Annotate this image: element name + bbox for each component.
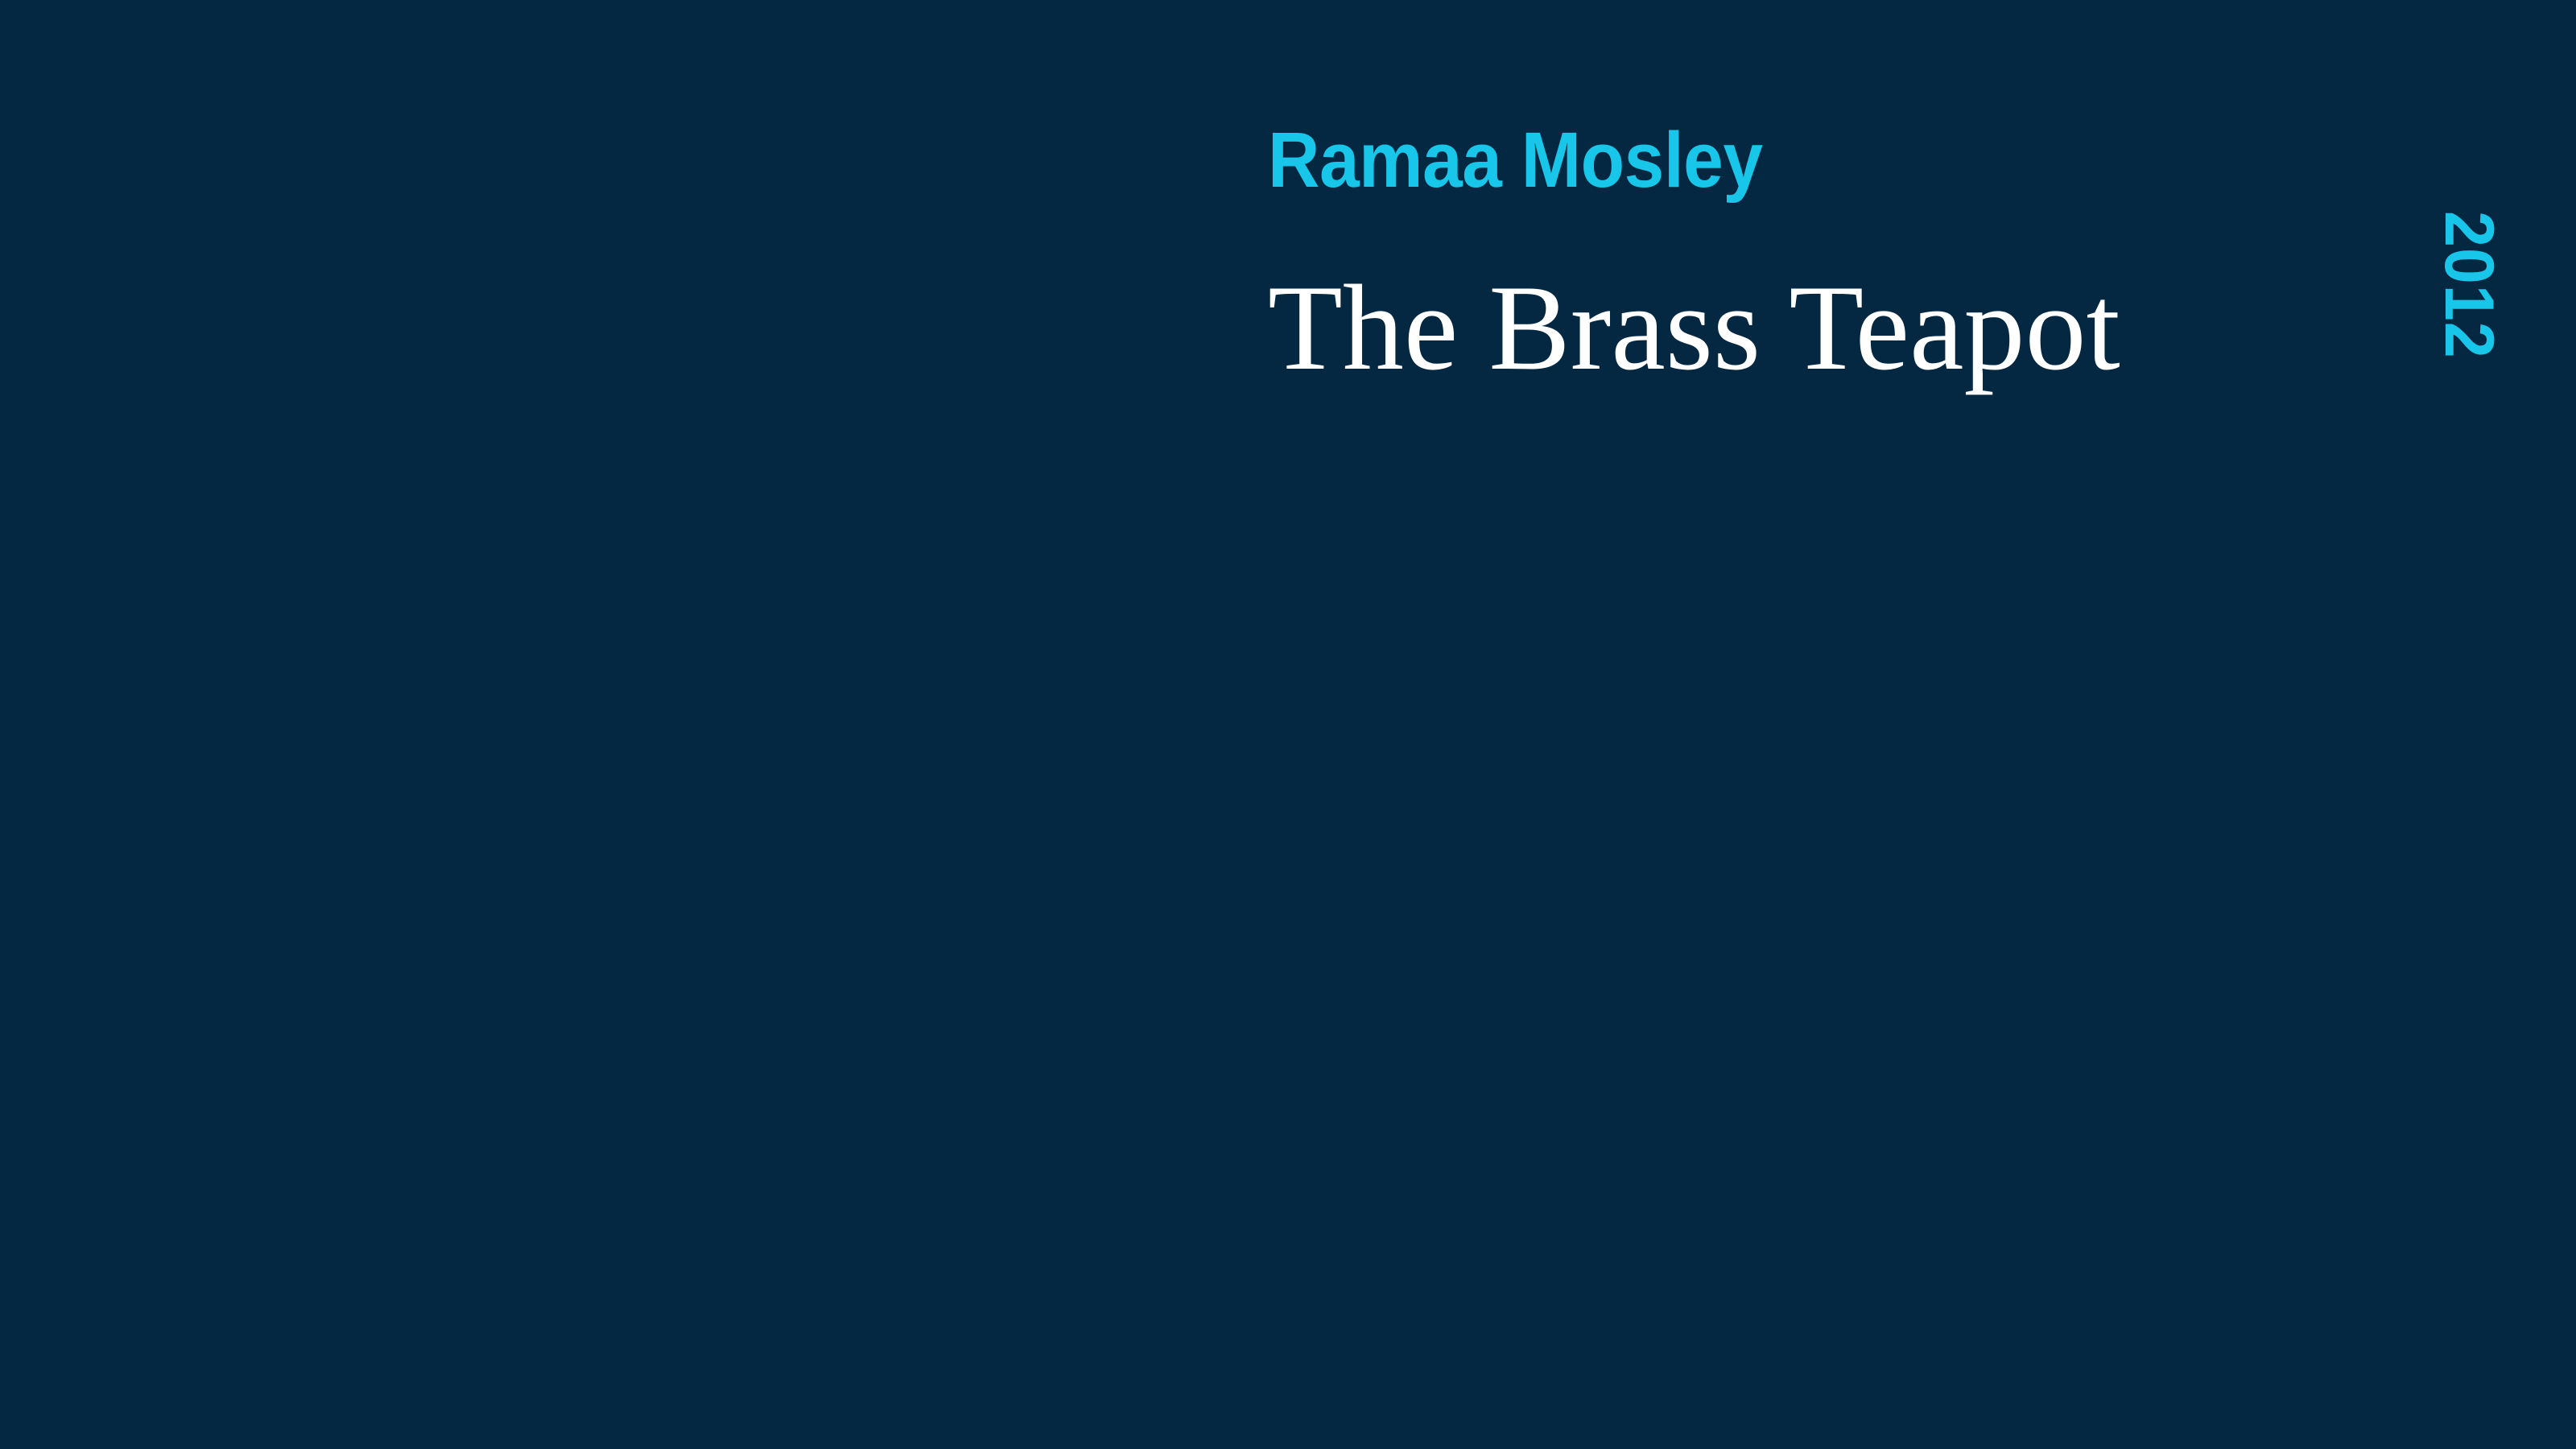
director-name: Ramaa Mosley — [1268, 121, 2245, 199]
film-title: The Brass Teapot — [1268, 266, 2330, 389]
release-year: 2012 — [2434, 211, 2504, 359]
title-block: Ramaa Mosley The Brass Teapot — [1268, 121, 2330, 389]
film-poster-card: Ramaa Mosley The Brass Teapot 2012 — [0, 0, 2576, 1449]
